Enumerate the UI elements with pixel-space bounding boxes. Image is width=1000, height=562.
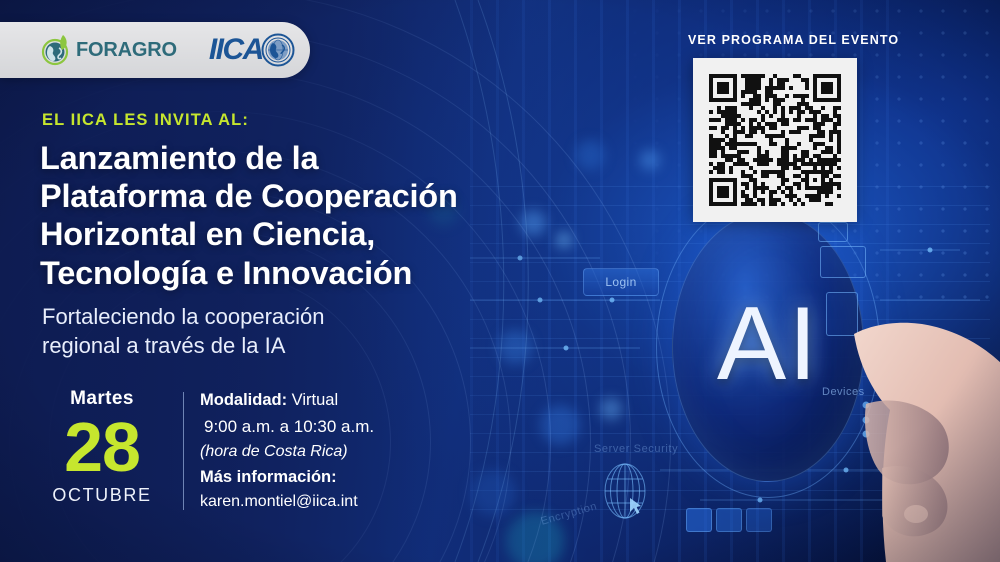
qr-panel[interactable] (693, 58, 857, 222)
vertical-divider (183, 392, 184, 510)
headline-line: Plataforma de Cooperación (40, 177, 510, 215)
iica-seal-icon (261, 33, 295, 67)
date-day-number: 28 (42, 412, 162, 483)
logo-bar: FORAGRO IICA (0, 22, 310, 78)
subtitle: Fortaleciendo la cooperación regional a … (42, 302, 442, 361)
headline-line: Tecnología e Innovación (40, 254, 510, 292)
timezone-note: (hora de Costa Rica) (200, 440, 500, 465)
more-info-label: Más información: (200, 468, 337, 486)
subtitle-line: Fortaleciendo la cooperación (42, 302, 442, 331)
subtitle-line: regional a través de la IA (42, 331, 442, 360)
modality-row: Modalidad: Virtual (200, 388, 500, 414)
globe-leaf-icon (40, 33, 74, 67)
iica-logo: IICA (209, 33, 295, 67)
more-info-row: Más información: (200, 465, 500, 491)
iica-wordmark: IICA (209, 33, 263, 67)
event-date: Martes 28 OCTUBRE (42, 388, 162, 506)
headline-line: Horizontal en Ciencia, (40, 215, 510, 253)
contact-email[interactable]: karen.montiel@iica.int (200, 490, 500, 515)
kicker-text: EL IICA LES INVITA AL: (42, 111, 249, 130)
modality-label: Modalidad: (200, 391, 287, 409)
event-time: 9:00 a.m. a 10:30 a.m. (200, 414, 500, 440)
foragro-logo: FORAGRO (40, 33, 177, 67)
foragro-wordmark: FORAGRO (76, 39, 177, 62)
modality-value: Virtual (292, 391, 338, 409)
event-details: Modalidad: Virtual 9:00 a.m. a 10:30 a.m… (200, 388, 500, 515)
date-month: OCTUBRE (42, 485, 162, 506)
date-day-of-week: Martes (42, 388, 162, 410)
headline-line: Lanzamiento de la (40, 139, 510, 177)
qr-code-icon[interactable] (709, 74, 841, 206)
qr-label: VER PROGRAMA DEL EVENTO (688, 33, 899, 47)
page-title: Lanzamiento de la Plataforma de Cooperac… (40, 139, 510, 292)
event-banner: AI Login Devices Server Security Encrypt… (0, 0, 1000, 562)
